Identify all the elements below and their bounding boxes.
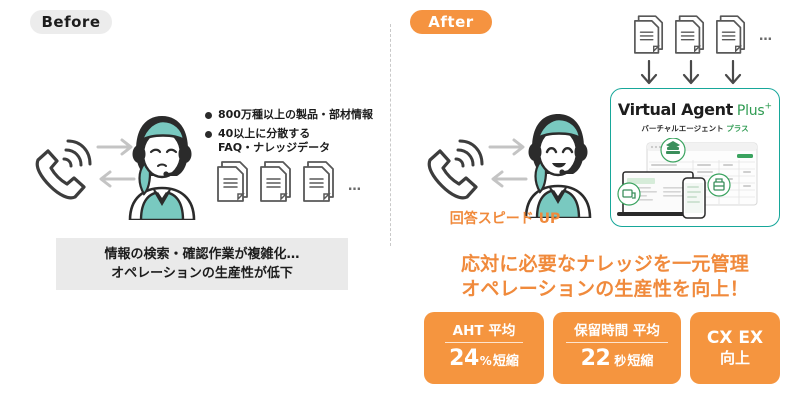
document-stack-icon: [674, 14, 706, 56]
kpi-badge-cx-ex-line1: CX EX: [707, 328, 763, 348]
kpi-badge-hold-time-number: 22: [581, 347, 611, 371]
document-stack-icon: [302, 160, 336, 204]
after-documents-ellipsis: …: [759, 29, 773, 44]
before-document-stack-group: …: [216, 160, 362, 204]
kpi-badge-group: AHT 平均 24 % 短縮 保留時間 平均 22 秒 短縮 CX EX 向上: [424, 312, 780, 384]
section-label-before: Before: [30, 10, 112, 34]
kpi-badge-aht-number: 24: [449, 347, 479, 371]
kpi-badge-cx-ex: CX EX 向上: [690, 312, 780, 384]
after-headline: 応対に必要なナレッジを一元管理 オペレーションの生産性を向上！: [430, 252, 780, 302]
kpi-badge-hold-time: 保留時間 平均 22 秒 短縮: [553, 312, 681, 384]
phone-ringing-icon: [26, 134, 96, 200]
infographic-canvas: Before After: [0, 0, 786, 400]
bullet-dot-icon: [205, 131, 212, 138]
after-phone-icon-group: [418, 134, 488, 204]
product-subtitle-jp: バーチャルエージェント: [641, 124, 726, 133]
kpi-badge-aht-value: 24 % 短縮: [449, 343, 519, 371]
before-bullet-item: 40以上に分散する FAQ・ナレッジデータ: [205, 127, 385, 155]
before-operator: [122, 108, 202, 224]
product-logo-main: Virtual Agent: [618, 100, 733, 119]
kpi-badge-aht-unit: %: [480, 355, 492, 368]
kpi-badge-aht-title: AHT 平均: [445, 324, 524, 343]
before-bullet-item: 800万種以上の製品・部材情報: [205, 108, 385, 122]
operator-happy-icon: [518, 106, 598, 218]
kpi-badge-hold-time-suffix: 短縮: [627, 355, 653, 369]
document-stack-icon: [216, 160, 250, 204]
kpi-badge-hold-time-value: 22 秒 短縮: [581, 343, 654, 371]
product-logo: Virtual Agent Plus+: [611, 100, 779, 119]
bullet-dot-icon: [205, 112, 212, 119]
before-caption-box: 情報の検索・確認作業が複雑化… オペレーションの生産性が低下: [56, 238, 348, 290]
kpi-badge-aht: AHT 平均 24 % 短縮: [424, 312, 544, 384]
dashboard-illustration: [611, 138, 779, 220]
arrow-down-icon: [640, 60, 658, 86]
product-dashboard-screenshot: [611, 138, 779, 220]
before-documents-ellipsis: …: [348, 179, 362, 194]
before-bullet-list: 800万種以上の製品・部材情報 40以上に分散する FAQ・ナレッジデータ: [205, 108, 385, 159]
kpi-badge-aht-suffix: 短縮: [493, 355, 519, 369]
arrow-down-icon: [682, 60, 700, 86]
kpi-badge-cx-ex-line2: 向上: [720, 349, 750, 368]
phone-ringing-icon: [418, 134, 488, 200]
after-document-stack-group: …: [633, 14, 773, 56]
arrow-down-icon: [724, 60, 742, 86]
section-divider: [390, 24, 391, 246]
before-bullet-text: 800万種以上の製品・部材情報: [218, 108, 373, 122]
after-arrow-down-group: [640, 60, 742, 86]
section-label-after: After: [410, 10, 492, 34]
document-stack-icon: [259, 160, 293, 204]
before-bullet-text: 40以上に分散する FAQ・ナレッジデータ: [218, 127, 330, 155]
product-subtitle-green: プラス: [726, 124, 748, 133]
document-stack-icon: [633, 14, 665, 56]
kpi-badge-hold-time-unit: 秒: [614, 355, 626, 368]
kpi-badge-hold-time-title: 保留時間 平均: [566, 324, 668, 343]
document-stack-icon: [715, 14, 747, 56]
before-caption-text: 情報の検索・確認作業が複雑化… オペレーションの生産性が低下: [104, 245, 299, 284]
operator-sad-icon: [122, 108, 202, 220]
product-logo-superscript: +: [765, 102, 773, 112]
product-logo-plus: Plus: [737, 103, 765, 119]
section-label-after-text: After: [428, 13, 473, 31]
speed-up-label: 回答スピード UP: [440, 208, 570, 228]
before-phone-icon-group: [26, 134, 96, 204]
after-operator: [518, 106, 598, 222]
section-label-before-text: Before: [41, 13, 100, 31]
product-subtitle: バーチャルエージェント プラス: [611, 123, 779, 134]
product-card: Virtual Agent Plus+ バーチャルエージェント プラス: [610, 88, 780, 227]
